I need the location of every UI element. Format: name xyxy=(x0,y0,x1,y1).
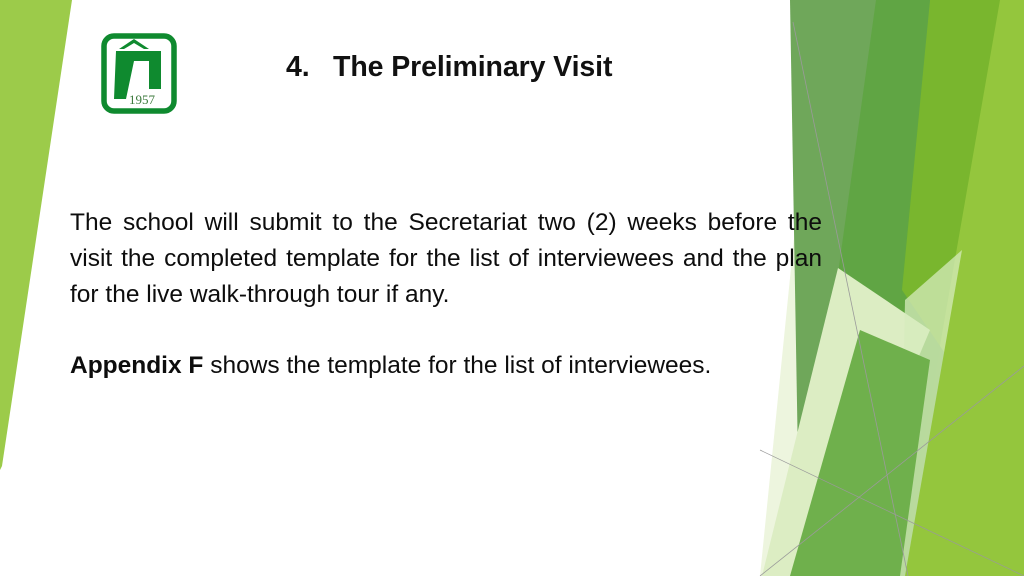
paragraph-appendix-reference: Appendix F shows the template for the li… xyxy=(70,348,822,384)
page-title: 4. The Preliminary Visit xyxy=(286,50,806,85)
logo-year-text: 1957 xyxy=(129,92,156,107)
left-green-wedge xyxy=(0,0,72,470)
appendix-description: shows the template for the list of inter… xyxy=(203,352,711,379)
mid-green-band xyxy=(796,0,1024,576)
bright-green-band xyxy=(840,0,1000,576)
light-green-band xyxy=(880,0,1024,576)
paragraph-submission-requirement: The school will submit to the Secretaria… xyxy=(70,205,822,312)
school-logo: 1957 xyxy=(101,33,177,114)
paragraph-spacer xyxy=(70,312,822,348)
hairline-diagonal-secondary xyxy=(760,366,1024,576)
slide-canvas: 1957 4. The Preliminary Visit The school… xyxy=(0,0,1024,576)
slide-body: The school will submit to the Secretaria… xyxy=(70,205,822,384)
hairline-diagonal-tertiary xyxy=(760,450,1024,576)
appendix-label: Appendix F xyxy=(70,352,203,379)
logo-mark-cap xyxy=(119,39,149,49)
saturated-bottom-right xyxy=(905,250,1024,576)
logo-mark-arch xyxy=(142,51,161,89)
pale-facet-upper xyxy=(900,250,1024,576)
